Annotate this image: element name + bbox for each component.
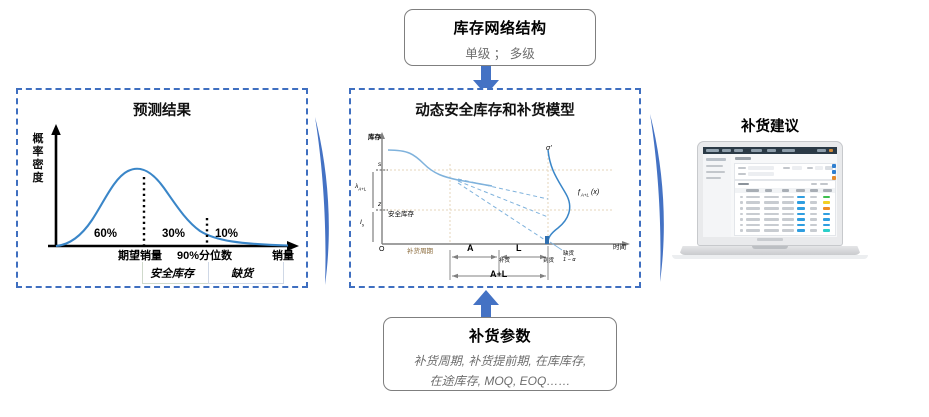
forecast-legend-stockout: 缺货 — [208, 262, 284, 284]
sidebar-item[interactable] — [706, 158, 726, 161]
app-float-icon[interactable] — [832, 164, 836, 168]
table-cell — [764, 213, 779, 216]
table-cell — [746, 224, 760, 227]
table-cell-status-chip — [823, 196, 830, 199]
table-cell-status-chip — [823, 224, 830, 227]
inventory-level-z: z — [378, 201, 381, 208]
app-main-content — [731, 154, 837, 237]
laptop-lid — [697, 141, 843, 246]
table-cell — [764, 207, 779, 210]
table-cell — [740, 213, 743, 216]
table-header-cell — [782, 189, 789, 191]
inventory-model-chart — [352, 124, 637, 284]
app-menu-item[interactable] — [782, 149, 795, 151]
forecast-segment-30: 30% — [162, 228, 185, 240]
filter-label — [738, 173, 746, 175]
table-cell — [764, 229, 779, 232]
table-header-cell — [810, 189, 818, 191]
table-cell — [810, 229, 817, 232]
app-menu-item[interactable] — [751, 149, 762, 151]
app-menu-item[interactable] — [722, 149, 731, 151]
table-header-cell — [765, 189, 772, 191]
table-cell — [746, 201, 760, 204]
table-cell — [782, 213, 794, 216]
sidebar-item[interactable] — [706, 165, 723, 167]
table-cell — [782, 224, 794, 227]
app-filter-bar — [734, 163, 836, 180]
app-menu-item[interactable] — [734, 149, 743, 151]
app-sidebar — [703, 154, 731, 237]
table-cell — [782, 196, 794, 199]
dynamic-panel-title: 动态安全库存和补货模型 — [351, 99, 639, 120]
table-cell-badge — [797, 207, 805, 210]
forecast-legend-stockout-label: 缺货 — [231, 265, 253, 281]
table-cell — [746, 196, 760, 199]
table-cell-badge — [797, 218, 805, 221]
table-toolbar-title — [738, 183, 749, 185]
table-cell — [746, 213, 760, 216]
table-cell-status-chip — [823, 201, 830, 204]
arrow-right-icon — [646, 112, 676, 284]
table-cell — [746, 207, 760, 210]
laptop-base-shadow — [672, 255, 868, 259]
table-cell — [746, 218, 760, 221]
inventory-safety-stock-label: 安全库存 — [388, 208, 414, 218]
forecast-legend-safety-stock-label: 安全库存 — [150, 265, 194, 281]
top-parameter-box: 库存网络结构 单级 ； 多级 — [404, 9, 596, 66]
table-cell-badge — [797, 213, 805, 216]
replenishment-suggestion-title: 补货建议 — [741, 115, 799, 136]
table-row[interactable] — [735, 217, 835, 222]
inventory-x-axis-label: 时间 — [613, 241, 626, 251]
sidebar-item[interactable] — [706, 171, 725, 173]
laptop-brand-label — [757, 238, 783, 241]
table-cell — [764, 224, 779, 227]
app-data-table — [734, 180, 836, 236]
inventory-stockout-sub: 1 − α — [563, 257, 575, 263]
table-toolbar-action[interactable] — [820, 183, 828, 185]
filter-label — [807, 167, 813, 169]
app-top-bar — [703, 147, 837, 154]
table-cell-badge — [797, 224, 805, 227]
table-cell-badge — [797, 201, 805, 204]
table-cell — [810, 207, 817, 210]
app-logo — [706, 149, 719, 151]
table-header-row — [735, 188, 835, 193]
table-cell — [764, 218, 779, 221]
forecast-segment-10: 10% — [215, 228, 238, 240]
table-cell — [764, 196, 779, 199]
table-cell — [740, 229, 743, 232]
inventory-bracket-i: Is — [360, 219, 364, 227]
inventory-sub-replenish: 补货 — [499, 256, 510, 264]
bottom-box-title: 补货参数 — [384, 325, 616, 346]
table-cell — [740, 207, 743, 210]
table-cell — [782, 207, 794, 210]
inventory-level-s: s — [378, 161, 381, 168]
bottom-parameter-box: 补货参数 补货周期, 补货提前期, 在库库存, 在途库存, MOQ, EOQ…… — [383, 317, 617, 391]
inventory-segment-total: A+L — [490, 269, 507, 279]
app-user-menu[interactable] — [817, 149, 826, 151]
inventory-segment-l: L — [516, 243, 522, 253]
table-row[interactable] — [735, 206, 835, 211]
inventory-sub-arrival: 到货 — [543, 256, 554, 264]
table-cell — [810, 201, 817, 204]
arrow-right-icon — [311, 115, 341, 287]
inventory-density-arg: (x) — [591, 189, 599, 196]
table-cell-badge — [797, 229, 805, 232]
inventory-density-label: ƒA+L(x) — [577, 189, 599, 197]
inventory-y-axis-label: 库存 — [368, 131, 381, 141]
inventory-sigma-label: σ' — [546, 145, 552, 152]
table-row[interactable] — [735, 195, 835, 200]
table-cell — [740, 201, 743, 204]
table-cell — [740, 224, 743, 227]
table-cell-status-chip — [823, 213, 830, 216]
table-cell — [810, 196, 817, 199]
filter-input[interactable] — [748, 172, 774, 175]
forecast-y-axis-label-text: 概率密度 — [32, 133, 44, 185]
table-cell — [740, 196, 743, 199]
forecast-legend-safety-stock: 安全库存 — [142, 262, 210, 284]
inventory-bracket-lambda: λA+L — [355, 183, 366, 191]
table-cell-status-chip — [823, 229, 830, 232]
forecast-tick-expected-sales: 期望销量 — [118, 247, 162, 263]
bottom-box-line1: 补货周期, 补货提前期, 在库库存, — [384, 352, 616, 369]
table-row[interactable] — [735, 211, 835, 216]
laptop-base-notch — [752, 246, 788, 249]
app-float-icon[interactable] — [832, 170, 836, 174]
inventory-stockout-label: 缺货 — [563, 249, 574, 257]
table-row[interactable] — [735, 228, 835, 233]
table-cell-badge — [797, 196, 805, 199]
inventory-bracket-i-sub: s — [362, 222, 364, 227]
app-settings-icon[interactable] — [829, 149, 833, 152]
table-cell — [810, 213, 817, 216]
forecast-segment-60: 60% — [94, 228, 117, 240]
table-row[interactable] — [735, 200, 835, 205]
app-breadcrumb — [735, 157, 751, 160]
filter-label — [783, 167, 790, 169]
table-cell — [740, 218, 743, 221]
table-cell-status-chip — [823, 218, 830, 221]
table-cell — [782, 201, 794, 204]
table-toolbar-action[interactable] — [811, 183, 817, 185]
inventory-density-sub: A+L — [581, 192, 589, 197]
inventory-origin-label: O — [379, 246, 384, 253]
inventory-bracket-lambda-sub: A+L — [358, 186, 366, 191]
table-cell — [746, 229, 760, 232]
table-cell — [810, 218, 817, 221]
sidebar-item[interactable] — [706, 177, 721, 179]
top-box-title: 库存网络结构 — [405, 17, 595, 38]
inventory-segment-a: A — [467, 243, 474, 253]
filter-input[interactable] — [815, 166, 823, 169]
table-cell — [782, 218, 794, 221]
filter-input[interactable] — [792, 166, 802, 169]
app-float-icon[interactable] — [832, 176, 836, 180]
filter-input[interactable] — [748, 166, 774, 169]
table-header-cell — [823, 189, 832, 191]
table-cell — [782, 229, 794, 232]
filter-label — [738, 167, 746, 169]
bottom-box-line2: 在途库存, MOQ, EOQ…… — [384, 372, 616, 389]
forecast-y-axis-label: 概率密度 — [31, 133, 45, 185]
table-row[interactable] — [735, 223, 835, 228]
table-header-cell — [746, 189, 759, 191]
inventory-review-period-label: 补货周期 — [407, 245, 433, 255]
table-cell — [764, 201, 779, 204]
laptop-screen — [703, 147, 837, 237]
table-cell — [810, 224, 817, 227]
top-box-subtitle: 单级 ； 多级 — [405, 43, 595, 62]
table-cell-status-chip — [823, 207, 830, 210]
diagram-canvas: 库存网络结构 单级 ； 多级 预测结果 概率密度 60% 30% 10% 期望销… — [0, 0, 929, 417]
forecast-tick-90-quantile: 90%分位数 — [177, 247, 232, 263]
forecast-x-axis-label: 销量 — [272, 247, 294, 263]
table-header-cell — [796, 189, 805, 191]
forecast-panel-title: 预测结果 — [18, 99, 306, 120]
app-menu-item[interactable] — [767, 149, 776, 151]
forecast-chart — [44, 124, 304, 274]
